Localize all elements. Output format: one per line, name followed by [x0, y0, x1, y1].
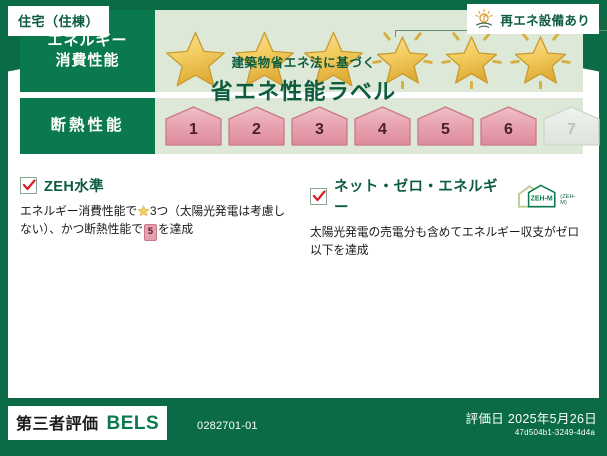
bels-en-label: BELS	[107, 413, 160, 435]
bels-certificate-number: 0282701-01	[197, 420, 258, 432]
criterion-text-part3: を達成	[158, 222, 193, 236]
evaluation-id: 47d504b1-3249-4d4a	[515, 428, 595, 437]
label-title-block: 建築物省エネ法に基づく 省エネ性能ラベル	[0, 52, 607, 106]
insulation-grade-house: 3	[289, 104, 350, 148]
zeh-m-logo-caption: (ZEH-M)	[560, 194, 582, 209]
insulation-grade-house: 4	[352, 104, 413, 148]
grade-number: 6	[478, 121, 539, 139]
criteria-section: ZEH水準 エネルギー消費性能で3つ（太陽光発電は考慮しない）、かつ断熱性能で5…	[20, 175, 583, 260]
insulation-grade-house: 6	[478, 104, 539, 148]
renewable-equipment-badge: 再エネ設備あり	[467, 4, 599, 34]
building-type-label: 住宅（住棟）	[18, 14, 99, 29]
renewable-badge-label: 再エネ設備あり	[500, 10, 590, 29]
zeh-m-house-logo-icon: ZEH-M	[516, 183, 559, 209]
energy-performance-label: 住宅（住棟） 再エネ設備あり 建築物省エネ法に基づく 省エネ性能ラベル	[0, 0, 607, 456]
bels-badge: 第三者評価 BELS	[8, 406, 167, 440]
bels-jp-label: 第三者評価	[16, 410, 99, 434]
sun-solar-icon	[473, 8, 495, 30]
zeh-m-logo-wrap: ZEH-M (ZEH-M)	[516, 183, 582, 209]
criterion-title: ネット・ゼロ・エネルギー	[334, 175, 508, 217]
insulation-grade-strip: 1 2 3 4	[163, 102, 579, 150]
checkbox-zeh-standard[interactable]	[20, 177, 37, 194]
evaluation-date: 評価日 2025年5月26日	[466, 408, 597, 427]
criterion-zeh-standard: ZEH水準 エネルギー消費性能で3つ（太陽光発電は考慮しない）、かつ断熱性能で5…	[20, 175, 292, 260]
title-subtitle: 建築物省エネ法に基づく	[0, 52, 607, 71]
grade-number: 7	[541, 121, 602, 139]
label-footer: 第三者評価 BELS 0282701-01 評価日 2025年5月26日 47d…	[0, 398, 607, 456]
criterion-text-part1: エネルギー消費性能で	[20, 204, 137, 218]
criterion-title: ZEH水準	[44, 175, 104, 196]
insulation-performance-row-label: 断熱性能	[20, 98, 155, 154]
inline-grade-badge: 5	[144, 224, 157, 241]
insulation-grade-house-inactive: 7	[541, 104, 602, 148]
insulation-grade-house: 5	[415, 104, 476, 148]
building-type-badge: 住宅（住棟）	[8, 6, 109, 36]
grade-number: 1	[163, 121, 224, 139]
insulation-grades-panel: 1 2 3 4	[155, 98, 583, 154]
criterion-description: 太陽光発電の売電分も含めてエネルギー収支がゼロ以下を達成	[310, 223, 582, 260]
grade-number: 4	[352, 121, 413, 139]
check-icon	[22, 178, 36, 192]
svg-text:ZEH-M: ZEH-M	[530, 195, 552, 202]
grade-number: 2	[226, 121, 287, 139]
evaluation-date-value: 2025年5月26日	[508, 412, 597, 426]
check-icon	[312, 189, 326, 203]
inline-star-icon	[137, 204, 150, 217]
criterion-header: ネット・ゼロ・エネルギー ZEH-M (ZEH-M)	[310, 175, 582, 217]
criterion-description: エネルギー消費性能で3つ（太陽光発電は考慮しない）、かつ断熱性能で5を達成	[20, 202, 292, 241]
evaluation-date-label: 評価日	[466, 412, 504, 426]
checkbox-net-zero-energy[interactable]	[310, 188, 327, 205]
grade-number: 3	[289, 121, 350, 139]
insulation-grade-house: 2	[226, 104, 287, 148]
insulation-performance-row: 断熱性能	[20, 98, 583, 154]
criterion-net-zero-energy: ネット・ゼロ・エネルギー ZEH-M (ZEH-M) 太陽光発電の売電分も含めて…	[310, 175, 582, 260]
criterion-header: ZEH水準	[20, 175, 292, 196]
grade-number: 5	[415, 121, 476, 139]
insulation-grade-house: 1	[163, 104, 224, 148]
title-main: 省エネ性能ラベル	[0, 74, 607, 106]
